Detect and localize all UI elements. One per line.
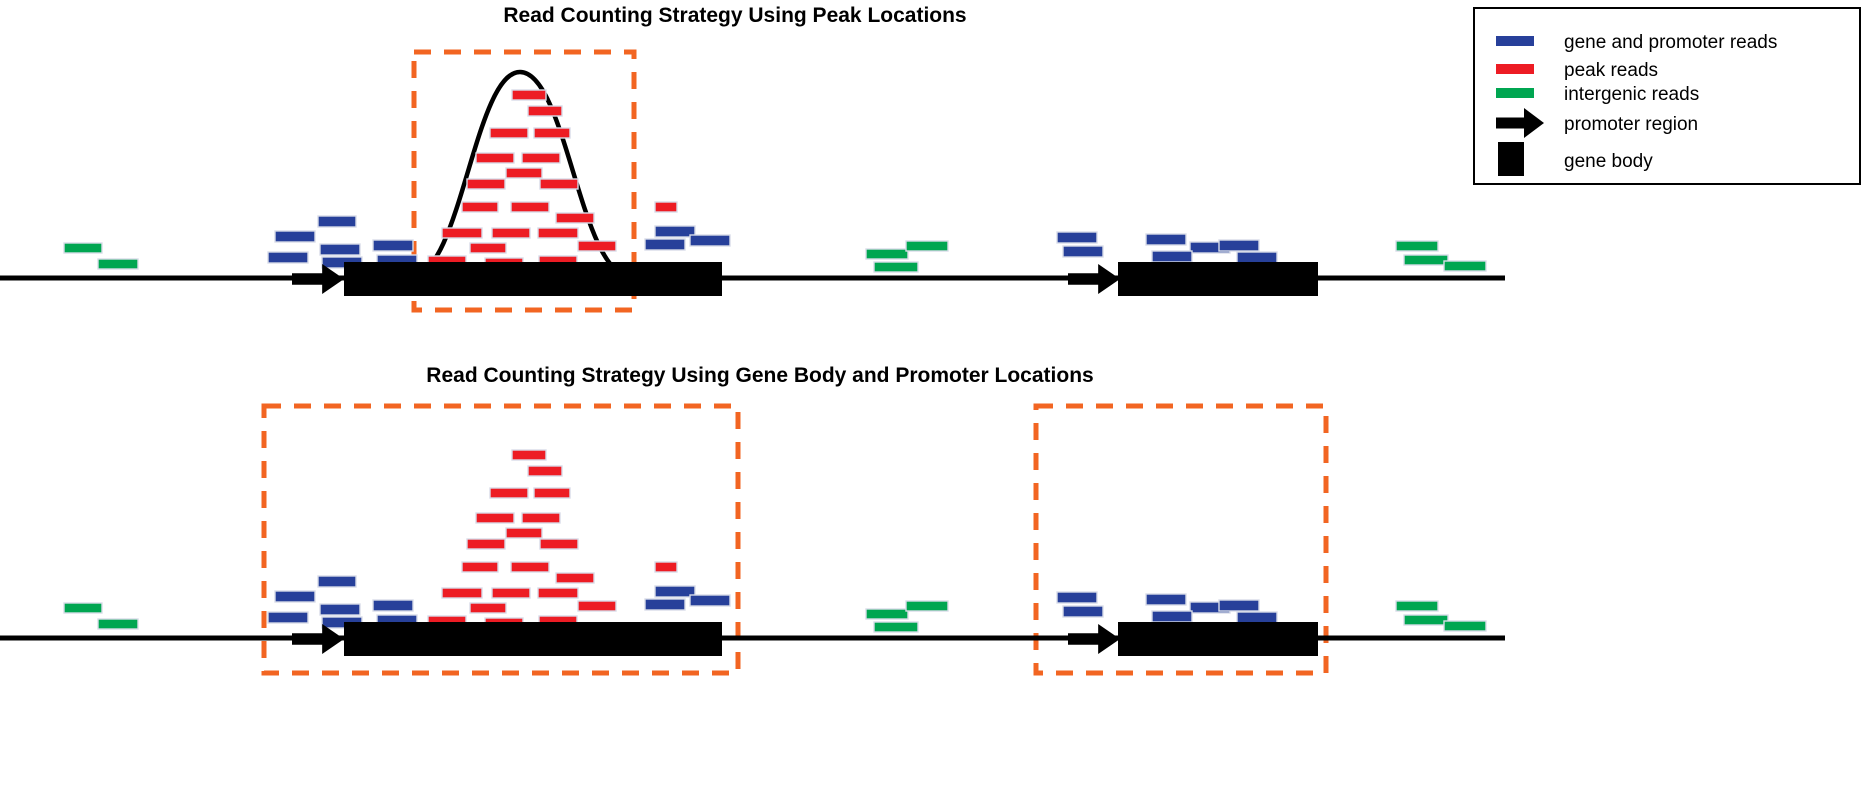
gene-body-gene-2 bbox=[1118, 262, 1318, 296]
gene-promoter-read bbox=[268, 252, 308, 263]
gene-promoter-read bbox=[1146, 234, 1186, 245]
peak-read bbox=[506, 168, 542, 178]
intergenic-read bbox=[866, 609, 908, 619]
peak-read bbox=[538, 228, 578, 238]
blue-read-bar-icon bbox=[1496, 36, 1534, 46]
peak-read bbox=[538, 588, 578, 598]
legend-label-1: peak reads bbox=[1564, 60, 1658, 81]
intergenic-read bbox=[874, 262, 918, 272]
gene-promoter-read bbox=[320, 604, 360, 615]
peak-read bbox=[578, 601, 616, 611]
gene-promoter-read bbox=[1219, 240, 1259, 251]
intergenic-read bbox=[906, 601, 948, 611]
peak-read bbox=[462, 562, 498, 572]
gene-promoter-read bbox=[655, 226, 695, 237]
top-panel bbox=[0, 52, 1505, 310]
peak-read bbox=[512, 450, 546, 460]
gene-promoter-read bbox=[373, 240, 413, 251]
gene-promoter-read bbox=[1237, 252, 1277, 263]
peak-read bbox=[528, 106, 562, 116]
gene-promoter-read bbox=[1146, 594, 1186, 605]
peak-read bbox=[476, 153, 514, 163]
intergenic-read bbox=[866, 249, 908, 259]
peak-read bbox=[556, 573, 594, 583]
peak-read bbox=[534, 488, 570, 498]
peak-read bbox=[655, 562, 677, 572]
peak-read bbox=[462, 202, 498, 212]
peak-read bbox=[511, 562, 549, 572]
intergenic-read bbox=[1404, 255, 1448, 265]
peak-read bbox=[540, 179, 578, 189]
peak-read bbox=[490, 488, 528, 498]
peak-read bbox=[467, 539, 505, 549]
peak-read bbox=[512, 90, 546, 100]
gene-promoter-read bbox=[268, 612, 308, 623]
gene-promoter-read bbox=[645, 239, 685, 250]
peak-read bbox=[522, 153, 560, 163]
gene-promoter-read bbox=[1152, 611, 1192, 622]
gene-promoter-read bbox=[655, 586, 695, 597]
gene-body-gene-2 bbox=[1118, 622, 1318, 656]
gene-promoter-read bbox=[320, 244, 360, 255]
gene-promoter-read bbox=[1063, 606, 1103, 617]
top-panel-title: Read Counting Strategy Using Peak Locati… bbox=[503, 4, 966, 27]
gene-promoter-read bbox=[1152, 251, 1192, 262]
peak-read bbox=[470, 603, 506, 613]
intergenic-read bbox=[1404, 615, 1448, 625]
peak-read bbox=[492, 228, 530, 238]
intergenic-read bbox=[906, 241, 948, 251]
gene-body-gene-1 bbox=[344, 622, 722, 656]
peak-read bbox=[467, 179, 505, 189]
legend-label-0: gene and promoter reads bbox=[1564, 32, 1777, 53]
intergenic-read bbox=[64, 603, 102, 613]
peak-read bbox=[511, 202, 549, 212]
peak-read bbox=[476, 513, 514, 523]
gene-promoter-read bbox=[1219, 600, 1259, 611]
green-read-bar-icon bbox=[1496, 88, 1534, 98]
peak-read bbox=[528, 466, 562, 476]
gene-promoter-read bbox=[318, 576, 356, 587]
gene-promoter-read bbox=[690, 595, 730, 606]
intergenic-read bbox=[1396, 241, 1438, 251]
gene-body-block-icon bbox=[1498, 142, 1524, 176]
gene-promoter-read bbox=[1057, 232, 1097, 243]
legend: gene and promoter readspeak readsinterge… bbox=[1474, 8, 1860, 184]
bottom-panel-title: Read Counting Strategy Using Gene Body a… bbox=[426, 364, 1093, 387]
gene-promoter-read bbox=[318, 216, 356, 227]
peak-read bbox=[442, 228, 482, 238]
peak-read bbox=[534, 128, 570, 138]
figure-canvas: Read Counting Strategy Using Peak Locati… bbox=[0, 0, 1866, 791]
intergenic-read bbox=[98, 619, 138, 629]
peak-read bbox=[442, 588, 482, 598]
gene-promoter-read bbox=[275, 231, 315, 242]
gene-promoter-read bbox=[275, 591, 315, 602]
gene-promoter-read bbox=[645, 599, 685, 610]
bottom-panel bbox=[0, 406, 1505, 673]
peak-read bbox=[506, 528, 542, 538]
legend-label-2: intergenic reads bbox=[1564, 84, 1699, 105]
peak-read bbox=[556, 213, 594, 223]
promoter-arrow-gene-2 bbox=[1068, 264, 1120, 294]
intergenic-read bbox=[1444, 621, 1486, 631]
peak-read bbox=[655, 202, 677, 212]
intergenic-read bbox=[64, 243, 102, 253]
peak-read bbox=[540, 539, 578, 549]
peak-read bbox=[522, 513, 560, 523]
promoter-arrow-gene-2 bbox=[1068, 624, 1120, 654]
gene-promoter-read bbox=[1063, 246, 1103, 257]
gene-promoter-read bbox=[373, 600, 413, 611]
intergenic-read bbox=[98, 259, 138, 269]
intergenic-read bbox=[874, 622, 918, 632]
peak-read bbox=[492, 588, 530, 598]
peak-read bbox=[470, 243, 506, 253]
gene-body-gene-1 bbox=[344, 262, 722, 296]
intergenic-read bbox=[1444, 261, 1486, 271]
legend-label-3: promoter region bbox=[1564, 114, 1698, 135]
intergenic-read bbox=[1396, 601, 1438, 611]
gene-promoter-read bbox=[1237, 612, 1277, 623]
legend-label-4: gene body bbox=[1564, 151, 1653, 172]
red-read-bar-icon bbox=[1496, 64, 1534, 74]
peak-read bbox=[578, 241, 616, 251]
gene-promoter-read bbox=[1057, 592, 1097, 603]
peak-read bbox=[490, 128, 528, 138]
gene-promoter-read bbox=[690, 235, 730, 246]
read-counting-strategy-figure: Read Counting Strategy Using Peak Locati… bbox=[0, 0, 1866, 791]
